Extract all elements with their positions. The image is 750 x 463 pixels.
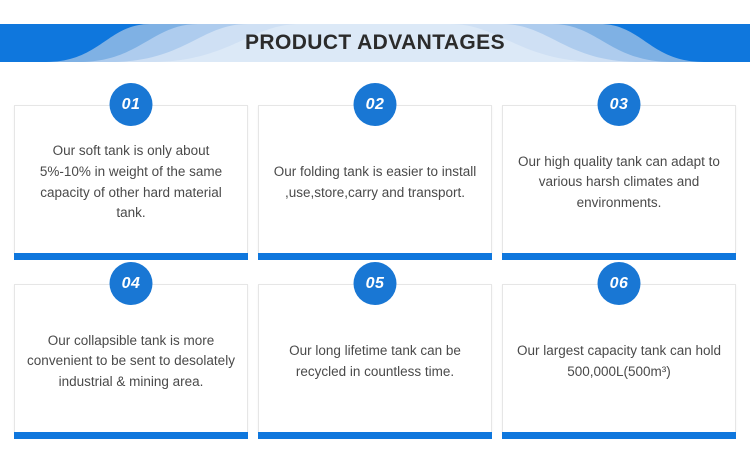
advantage-text-02: Our folding tank is easier to install ,u… [259, 162, 491, 203]
advantage-card-body-03: Our high quality tank can adapt to vario… [502, 105, 736, 253]
advantage-text-05: Our long lifetime tank can be recycled i… [259, 341, 491, 382]
advantage-card-06: 06 Our largest capacity tank can hold 50… [502, 284, 736, 432]
advantage-badge-01: 01 [110, 83, 153, 126]
advantage-text-06: Our largest capacity tank can hold 500,0… [503, 341, 735, 382]
advantage-accent-bar-02 [258, 253, 492, 260]
advantage-card-body-06: Our largest capacity tank can hold 500,0… [502, 284, 736, 432]
advantage-accent-bar-03 [502, 253, 736, 260]
advantage-badge-02: 02 [354, 83, 397, 126]
advantage-text-01: Our soft tank is only about 5%-10% in we… [15, 141, 247, 223]
advantages-row-1: 01 Our soft tank is only about 5%-10% in… [14, 105, 736, 253]
advantage-card-03: 03 Our high quality tank can adapt to va… [502, 105, 736, 253]
advantage-card-body-01: Our soft tank is only about 5%-10% in we… [14, 105, 248, 253]
advantage-card-body-04: Our collapsible tank is more convenient … [14, 284, 248, 432]
advantage-card-body-02: Our folding tank is easier to install ,u… [258, 105, 492, 253]
advantage-badge-06: 06 [598, 262, 641, 305]
advantage-badge-04: 04 [110, 262, 153, 305]
advantage-card-04: 04 Our collapsible tank is more convenie… [14, 284, 248, 432]
advantage-badge-05: 05 [354, 262, 397, 305]
advantage-text-03: Our high quality tank can adapt to vario… [503, 152, 735, 214]
advantage-accent-bar-06 [502, 432, 736, 439]
advantages-grid: 01 Our soft tank is only about 5%-10% in… [14, 105, 736, 463]
page-title: PRODUCT ADVANTAGES [0, 24, 750, 62]
advantage-text-04: Our collapsible tank is more convenient … [15, 331, 247, 393]
advantage-card-05: 05 Our long lifetime tank can be recycle… [258, 284, 492, 432]
advantage-accent-bar-01 [14, 253, 248, 260]
advantage-badge-03: 03 [598, 83, 641, 126]
advantage-accent-bar-04 [14, 432, 248, 439]
advantage-card-01: 01 Our soft tank is only about 5%-10% in… [14, 105, 248, 253]
advantage-card-body-05: Our long lifetime tank can be recycled i… [258, 284, 492, 432]
advantage-card-02: 02 Our folding tank is easier to install… [258, 105, 492, 253]
advantage-accent-bar-05 [258, 432, 492, 439]
advantages-row-2: 04 Our collapsible tank is more convenie… [14, 284, 736, 432]
